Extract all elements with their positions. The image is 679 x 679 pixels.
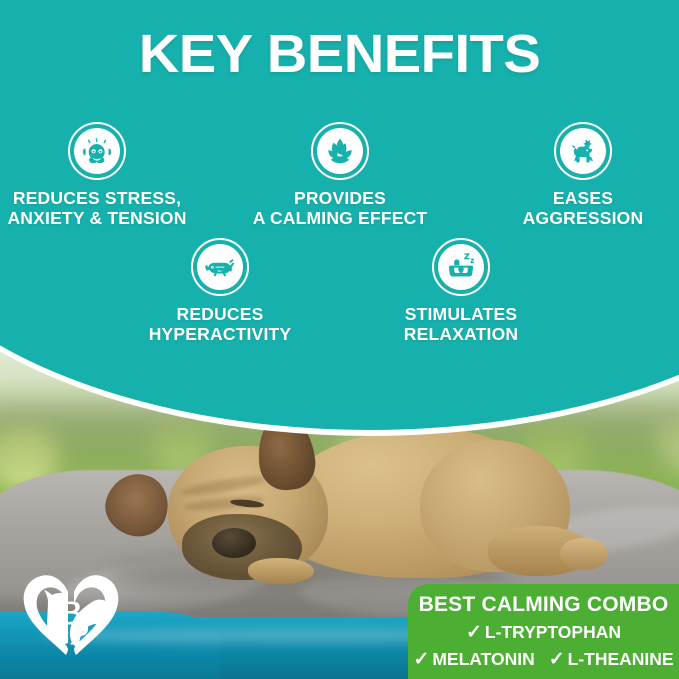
dog-nose — [212, 528, 256, 558]
benefit-icon-badge — [68, 122, 126, 180]
badge-row-primary: ✓ L-TRYPTOPHAN — [408, 622, 679, 643]
check-icon: ✓ — [413, 650, 429, 669]
badge-row-secondary: ✓ MELATONIN ✓ L-THEANINE — [408, 649, 679, 670]
benefit-label: PROVIDES A CALMING EFFECT — [240, 189, 440, 228]
best-calming-combo-badge: BEST CALMING COMBO ✓ L-TRYPTOPHAN ✓ MELA… — [408, 584, 679, 679]
benefit-icon-badge — [191, 238, 249, 296]
benefit-label: REDUCES STRESS, ANXIETY & TENSION — [0, 189, 197, 228]
stressed-dog-head-icon — [74, 128, 120, 174]
badge-ingredient-l-tryptophan: ✓ L-TRYPTOPHAN — [466, 622, 621, 643]
benefit-icon-badge — [554, 122, 612, 180]
lotus-flower-icon — [317, 128, 363, 174]
badge-ingredient-melatonin: ✓ MELATONIN — [413, 649, 534, 670]
benefit-label: STIMULATES RELAXATION — [361, 305, 561, 344]
benefit-item-reduces-hyperactivity: REDUCES HYPERACTIVITY — [120, 238, 320, 344]
benefit-item-eases-aggression: EASES AGGRESSION — [483, 122, 679, 228]
badge-title: BEST CALMING COMBO — [408, 593, 679, 616]
benefit-item-calming-effect: PROVIDES A CALMING EFFECT — [240, 122, 440, 228]
page-title: KEY BENEFITS — [0, 23, 679, 85]
benefit-label: EASES AGGRESSION — [483, 189, 679, 228]
benefit-label: REDUCES HYPERACTIVITY — [120, 305, 320, 344]
check-icon: ✓ — [549, 650, 565, 669]
sleeping-dog-bed-icon — [438, 244, 484, 290]
benefit-item-stimulates-relaxation: STIMULATES RELAXATION — [361, 238, 561, 344]
benefit-icon-badge — [311, 122, 369, 180]
infographic-poster: KEY BENEFITS — [0, 0, 679, 679]
running-dog-icon — [197, 244, 243, 290]
benefit-item-reduces-stress: REDUCES STRESS, ANXIETY & TENSION — [0, 122, 197, 228]
check-icon: ✓ — [466, 623, 482, 642]
benefit-icon-badge — [432, 238, 490, 296]
dog-back-paw — [560, 538, 608, 570]
badge-ingredient-label: L-TRYPTOPHAN — [485, 622, 621, 643]
badge-ingredient-l-theanine: ✓ L-THEANINE — [549, 649, 674, 670]
brand-logo: B P — [12, 558, 130, 670]
badge-ingredient-label: L-THEANINE — [568, 649, 674, 670]
dog-front-paw — [248, 558, 314, 584]
alert-dog-icon — [560, 128, 606, 174]
badge-ingredient-label: MELATONIN — [432, 649, 534, 670]
svg-text:P: P — [70, 615, 89, 652]
